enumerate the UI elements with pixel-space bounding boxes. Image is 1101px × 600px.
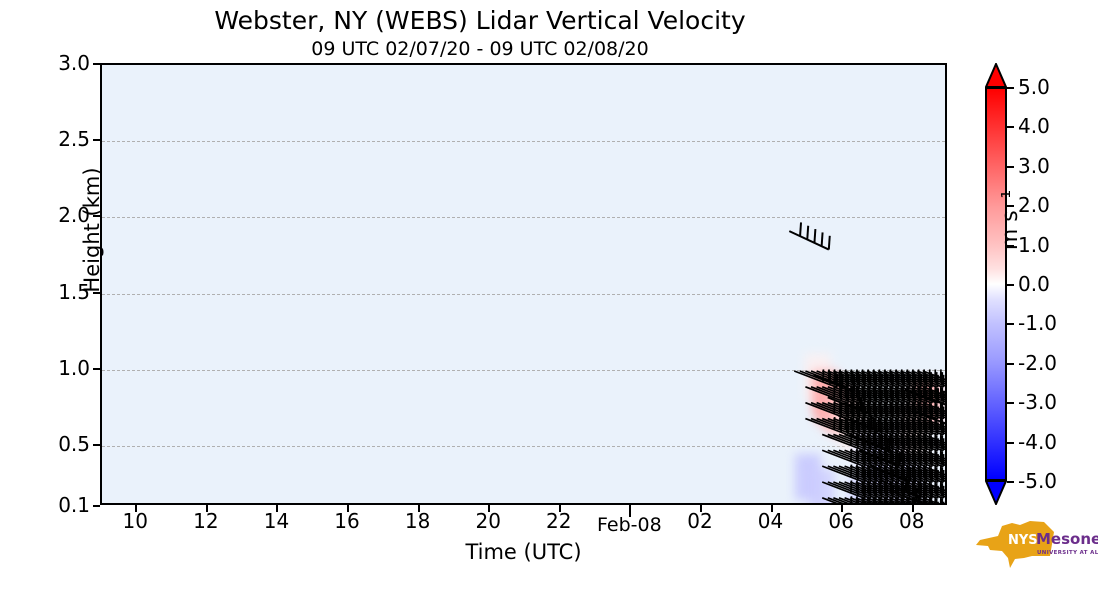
x-axis-label: Time (UTC) bbox=[100, 540, 947, 564]
colorbar-tick-label: -4.0 bbox=[1018, 432, 1057, 452]
x-tick-mark bbox=[629, 505, 631, 517]
nys-mesonet-logo: NYS Mesonet UNIVERSITY AT ALBANY bbox=[958, 512, 1098, 574]
x-tick-mark bbox=[771, 505, 773, 512]
colorbar-tick-label: 5.0 bbox=[1018, 77, 1050, 97]
y-tick-label: 0.1 bbox=[28, 495, 90, 515]
colorbar-tick-mark bbox=[1007, 481, 1014, 483]
logo-mesonet-text: Mesonet bbox=[1036, 530, 1098, 548]
colorbar-extend-top-arrow-icon bbox=[985, 63, 1007, 88]
y-tick-label: 1.5 bbox=[28, 282, 90, 302]
y-tick-label: 2.5 bbox=[28, 129, 90, 149]
x-tick-label: 08 bbox=[867, 510, 957, 532]
y-tick-mark bbox=[93, 139, 100, 141]
chart-subtitle: 09 UTC 02/07/20 - 09 UTC 02/08/20 bbox=[0, 36, 960, 62]
colorbar-extend-bottom-arrow-icon bbox=[985, 480, 1007, 505]
colorbar-tick-mark bbox=[1007, 363, 1014, 365]
y-tick-label: 0.5 bbox=[28, 434, 90, 454]
y-tick-mark bbox=[93, 63, 100, 65]
colorbar-tick-mark bbox=[1007, 126, 1014, 128]
x-tick-mark bbox=[700, 505, 702, 512]
colorbar-axis-label: m s⁻¹ bbox=[998, 150, 1023, 290]
y-tick-mark bbox=[93, 368, 100, 370]
y-tick-label: 2.0 bbox=[28, 205, 90, 225]
x-tick-mark bbox=[559, 505, 561, 512]
plot-area[interactable] bbox=[100, 63, 947, 505]
colorbar-tick-label: -2.0 bbox=[1018, 353, 1057, 373]
colorbar-tick-label: 4.0 bbox=[1018, 116, 1050, 136]
colorbar-tick-mark bbox=[1007, 323, 1014, 325]
x-tick-mark bbox=[841, 505, 843, 512]
title-block: Webster, NY (WEBS) Lidar Vertical Veloci… bbox=[0, 6, 960, 62]
y-tick-label: 3.0 bbox=[28, 53, 90, 73]
x-tick-mark bbox=[206, 505, 208, 512]
colorbar-tick-mark bbox=[1007, 442, 1014, 444]
x-tick-mark bbox=[135, 505, 137, 512]
wind-barbs-layer bbox=[102, 65, 945, 503]
colorbar-tick-label: -1.0 bbox=[1018, 313, 1057, 333]
x-tick-mark bbox=[488, 505, 490, 512]
y-tick-mark bbox=[93, 215, 100, 217]
page-title: Webster, NY (WEBS) Lidar Vertical Veloci… bbox=[0, 6, 960, 36]
wind-barb-icon bbox=[789, 219, 834, 249]
colorbar-tick-label: -3.0 bbox=[1018, 392, 1057, 412]
colorbar-tick-mark bbox=[1007, 87, 1014, 89]
x-tick-mark bbox=[347, 505, 349, 512]
logo-nys-text: NYS bbox=[1008, 533, 1038, 548]
colorbar-tick-mark bbox=[1007, 402, 1014, 404]
y-tick-label: 1.0 bbox=[28, 358, 90, 378]
y-tick-mark bbox=[93, 292, 100, 294]
x-tick-mark bbox=[276, 505, 278, 512]
y-tick-mark bbox=[93, 444, 100, 446]
logo-university-text: UNIVERSITY AT ALBANY bbox=[1037, 550, 1098, 556]
colorbar-tick-label: -5.0 bbox=[1018, 471, 1057, 491]
x-tick-mark bbox=[912, 505, 914, 512]
y-tick-mark bbox=[93, 505, 100, 507]
x-tick-mark bbox=[418, 505, 420, 512]
